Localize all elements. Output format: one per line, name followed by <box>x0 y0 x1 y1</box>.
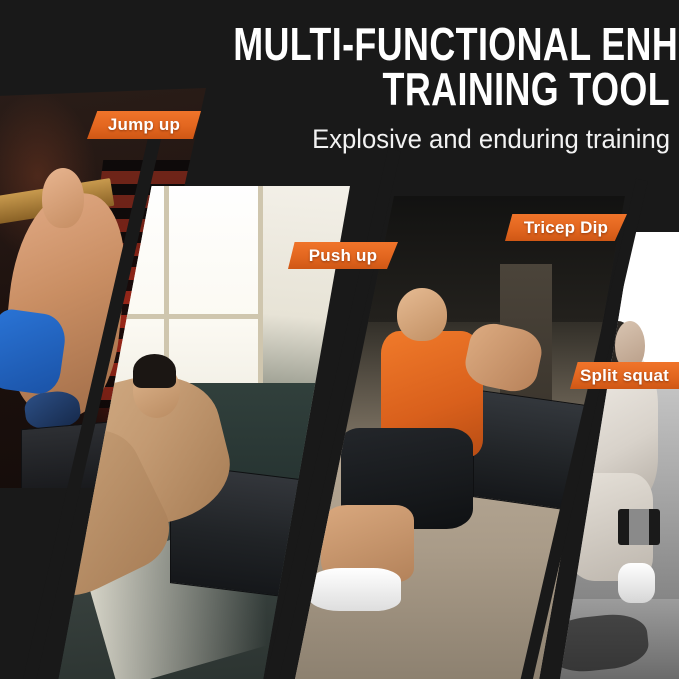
product-banner: Jump up Push up Tricep Dip Split squat M… <box>0 0 679 679</box>
athlete-head-shape <box>397 288 447 341</box>
badge-tricep-dip-label: Tricep Dip <box>524 218 608 238</box>
badge-jump-up-label: Jump up <box>108 115 180 135</box>
headline-line-1: MULTI-FUNCTIONAL ENHANCED <box>233 22 670 67</box>
white-sneaker-shape <box>618 563 656 603</box>
badge-push-up-label: Push up <box>309 246 377 266</box>
dumbbell-shape <box>618 509 661 545</box>
badge-tricep-dip: Tricep Dip <box>505 214 627 241</box>
athlete-shoe-shape <box>40 555 74 602</box>
headline-line-2: TRAINING TOOL <box>233 67 670 112</box>
badge-push-up: Push up <box>288 242 398 269</box>
headline-subtitle: Explosive and enduring training <box>138 123 670 155</box>
badge-jump-up: Jump up <box>87 111 201 139</box>
athlete-hair-shape <box>133 354 176 389</box>
badge-split-squat-label: Split squat <box>580 366 669 386</box>
badge-split-squat: Split squat <box>570 362 679 389</box>
white-sneakers-shape <box>308 568 400 611</box>
athlete-head-shape <box>42 168 84 228</box>
